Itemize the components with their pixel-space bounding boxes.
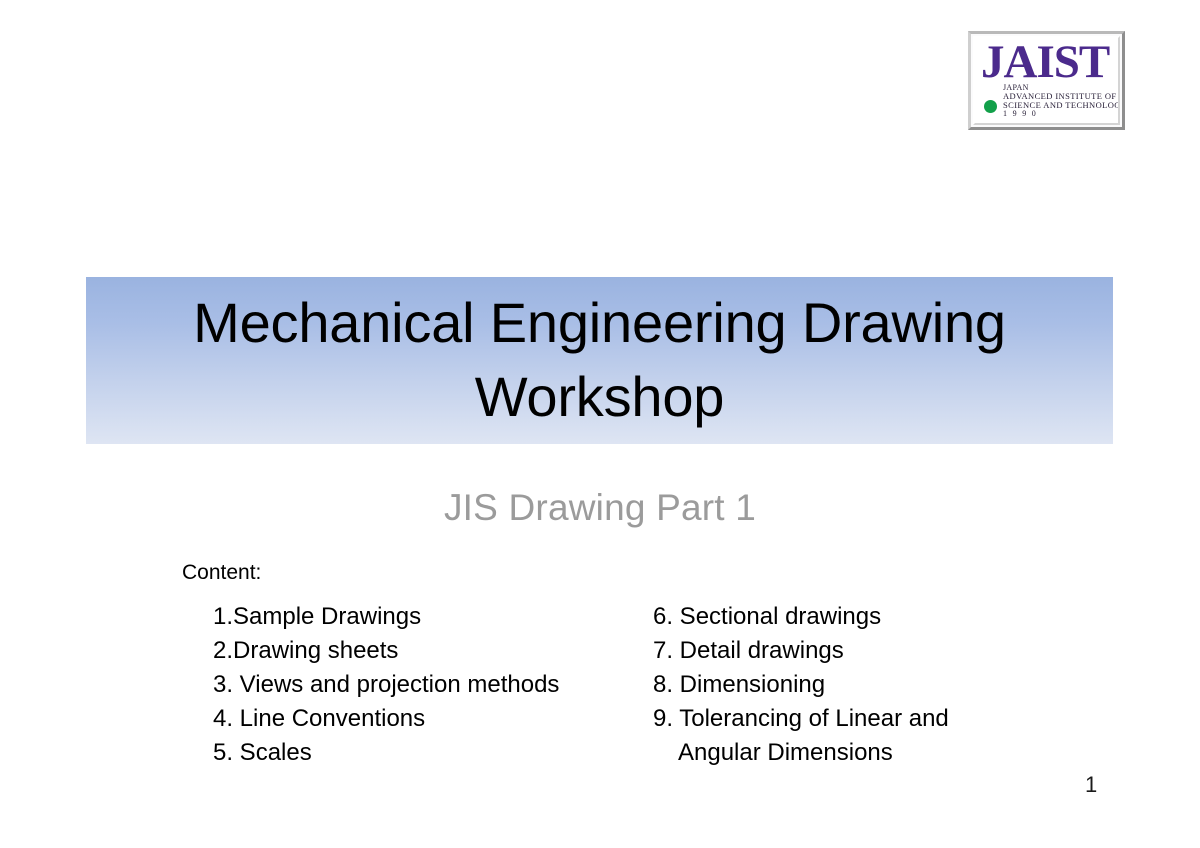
list-item: 1.Sample Drawings: [213, 600, 559, 634]
presentation-slide: JAIST JAPAN ADVANCED INSTITUTE OF SCIENC…: [0, 0, 1200, 848]
content-list-left: 1.Sample Drawings 2.Drawing sheets 3. Vi…: [213, 600, 559, 770]
jaist-logo-subtext: JAPAN ADVANCED INSTITUTE OF SCIENCE AND …: [1003, 84, 1120, 119]
list-item: 7. Detail drawings: [653, 634, 949, 668]
title-band: Mechanical Engineering Drawing Workshop: [86, 277, 1113, 444]
list-item: 2.Drawing sheets: [213, 634, 559, 668]
page-subtitle: JIS Drawing Part 1: [0, 487, 1200, 529]
jaist-logo-line-year: 1 9 9 0: [1003, 110, 1120, 118]
page-title-line-1: Mechanical Engineering Drawing: [193, 286, 1006, 360]
jaist-green-dot-icon: [984, 100, 997, 113]
content-list-right: 6. Sectional drawings 7. Detail drawings…: [653, 600, 949, 770]
list-item: 6. Sectional drawings: [653, 600, 949, 634]
jaist-logo: JAIST JAPAN ADVANCED INSTITUTE OF SCIENC…: [968, 31, 1125, 130]
page-number: 1: [1085, 772, 1097, 798]
list-item: 5. Scales: [213, 736, 559, 770]
list-item: 3. Views and projection methods: [213, 668, 559, 702]
jaist-wordmark: JAIST: [981, 39, 1109, 86]
list-item: 9. Tolerancing of Linear and: [653, 702, 949, 736]
page-title-line-2: Workshop: [475, 360, 724, 434]
content-label: Content:: [182, 561, 261, 585]
jaist-logo-frame: JAIST JAPAN ADVANCED INSTITUTE OF SCIENC…: [973, 36, 1120, 125]
list-item-continuation: Angular Dimensions: [653, 736, 949, 770]
list-item: 4. Line Conventions: [213, 702, 559, 736]
list-item: 8. Dimensioning: [653, 668, 949, 702]
